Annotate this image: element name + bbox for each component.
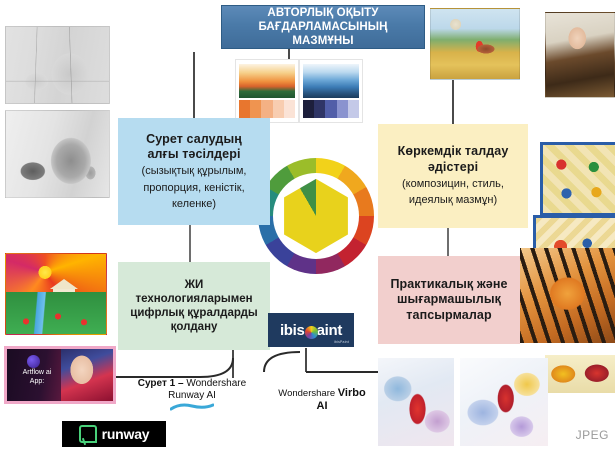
node-analysis-heading2: әдістері [428,160,478,175]
node-artistic-analysis[interactable]: Көркемдік талдау әдістері (композицин, с… [378,124,528,228]
caption-virbo-prefix: Wondershare [278,388,338,399]
runway-wave-icon [170,403,214,411]
runway-logo[interactable]: runway [62,421,166,447]
caption-runway-bold: Сурет 1 – [138,378,184,389]
node-analysis-detail1: (композицин, стиль, [402,178,504,191]
slide-canvas: Artflow ai App: АВТОРЛЫҚ ОҚЫТУ БАҒДАРЛАМ… [0,0,615,449]
image-portrait-painting [545,12,615,98]
ibispaint-text-ibis: ibis [280,322,305,339]
image-artflow-app: Artflow ai App: [4,346,116,404]
node-practice-line1: Практикалық және [390,277,507,292]
node-practice-line3: тапсырмалар [406,308,491,323]
node-drawing-detail3: келенке) [172,198,216,211]
image-ornament-1 [540,142,615,216]
palette-warm-swatches [239,100,295,118]
node-analysis-heading1: Көркемдік талдау [398,144,509,159]
runway-mark-icon [79,425,97,443]
color-wheel-image [258,158,374,274]
node-drawing-detail1: (сызықтық құрылым, [142,165,247,178]
runway-wordmark: runway [102,426,150,442]
node-ai-line1: ЖИ технологияларымен [125,278,263,306]
artflow-line2: App: [30,378,44,385]
page-title: АВТОРЛЫҚ ОҚЫТУ БАҒДАРЛАМАСЫНЫҢ МАЗМҰНЫ [221,5,425,49]
ibispaint-subtitle: ibisPaint [334,340,349,344]
artflow-label: Artflow ai App: [14,369,60,387]
node-analysis-detail2: идеялық мазмұн) [409,194,497,207]
node-drawing-detail2: пропорция, кеністік, [143,182,244,195]
caption-virbo-suffix: AI [317,400,328,412]
palette-warm-landscape [239,64,295,98]
image-butterfly-painting [545,355,615,393]
ibispaint-text-aint: aint [317,322,342,339]
caption-runway: Сурет 1 – Wondershare Runway AI [124,378,260,411]
image-palette-warm [235,59,299,123]
node-practical-tasks[interactable]: Практикалық және шығармашылық тапсырмала… [378,256,520,344]
image-pencil-stilllife-2 [5,110,110,198]
artflow-line1: Artflow ai [23,369,52,376]
node-drawing-techniques[interactable]: Сурет салудың алғы тәсілдері (сызықтық қ… [118,118,270,225]
ibispaint-wordmark: ibis aint [280,322,342,339]
artflow-logo-icon [27,355,40,368]
node-ai-line2: цифрлық құралдарды [130,306,257,320]
page-title-line1: АВТОРЛЫҚ ОҚЫТУ [267,6,378,20]
image-dancer-1 [378,358,454,446]
palette-cool-swatches [303,100,359,118]
palette-cool-landscape [303,64,359,98]
house-shape [53,288,75,308]
image-pencil-stilllife-1 [5,26,110,104]
ibispaint-color-circle-icon [305,326,318,339]
node-ai-digital-tools[interactable]: ЖИ технологияларымен цифрлық құралдарды … [118,262,270,350]
caption-virbo-bold: Virbo [338,387,366,399]
node-ai-line3: қолдану [171,320,218,334]
image-sunflower-painting [5,253,107,335]
image-palette-cool [299,59,363,123]
node-drawing-heading1: Сурет салудың [146,132,242,147]
image-horse-painting [430,8,520,80]
page-title-line2: БАҒДАРЛАМАСЫНЫҢ МАЗМҰНЫ [229,20,417,48]
image-tiger-painting [520,248,615,343]
node-practice-line2: шығармашылық [397,292,501,307]
artflow-artwork [61,349,113,401]
ibispaint-logo[interactable]: ibis aint ibisPaint [268,313,354,347]
node-drawing-heading2: алғы тәсілдері [147,147,240,162]
watermark-jpeg: JPEG [576,428,609,442]
image-dancer-2 [460,358,548,446]
caption-virbo: Wondershare Virbo AI [267,387,377,414]
